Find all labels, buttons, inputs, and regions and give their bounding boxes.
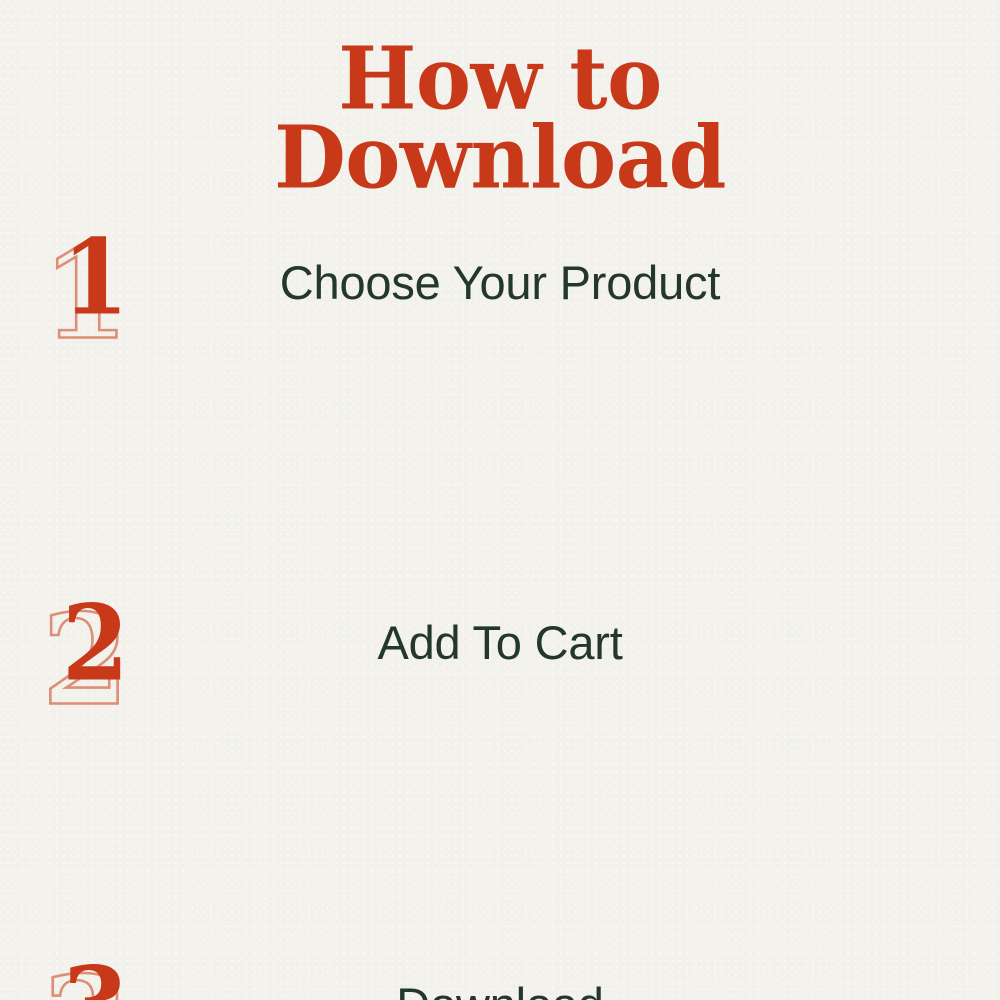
page-title: How to Download xyxy=(0,42,1000,200)
step-item-4: 4 4 Come Back & Share Your Experience xyxy=(0,762,1000,942)
step-label-line-1-1: Choose Your Product xyxy=(200,258,800,308)
how-to-download-poster: How to Download 1 1 Choose Your Product … xyxy=(0,0,1000,1000)
step-item-3: 3 3 Download xyxy=(0,582,1000,762)
step-label-3: Download xyxy=(200,980,800,1000)
step-number-solid-3: 3 xyxy=(62,954,129,1000)
page-title-line-2: Download xyxy=(0,114,1000,204)
step-item-2: 2 2 Add To Cart xyxy=(0,402,1000,582)
step-label-1: Choose Your Product xyxy=(200,258,800,308)
step-item-1: 1 1 Choose Your Product xyxy=(0,222,1000,402)
step-number-badge-3: 3 3 xyxy=(38,954,168,1000)
step-number-solid-1: 1 xyxy=(62,226,129,330)
step-number-badge-1: 1 1 xyxy=(38,226,168,346)
step-label-line-3-1: Download xyxy=(200,980,800,1000)
